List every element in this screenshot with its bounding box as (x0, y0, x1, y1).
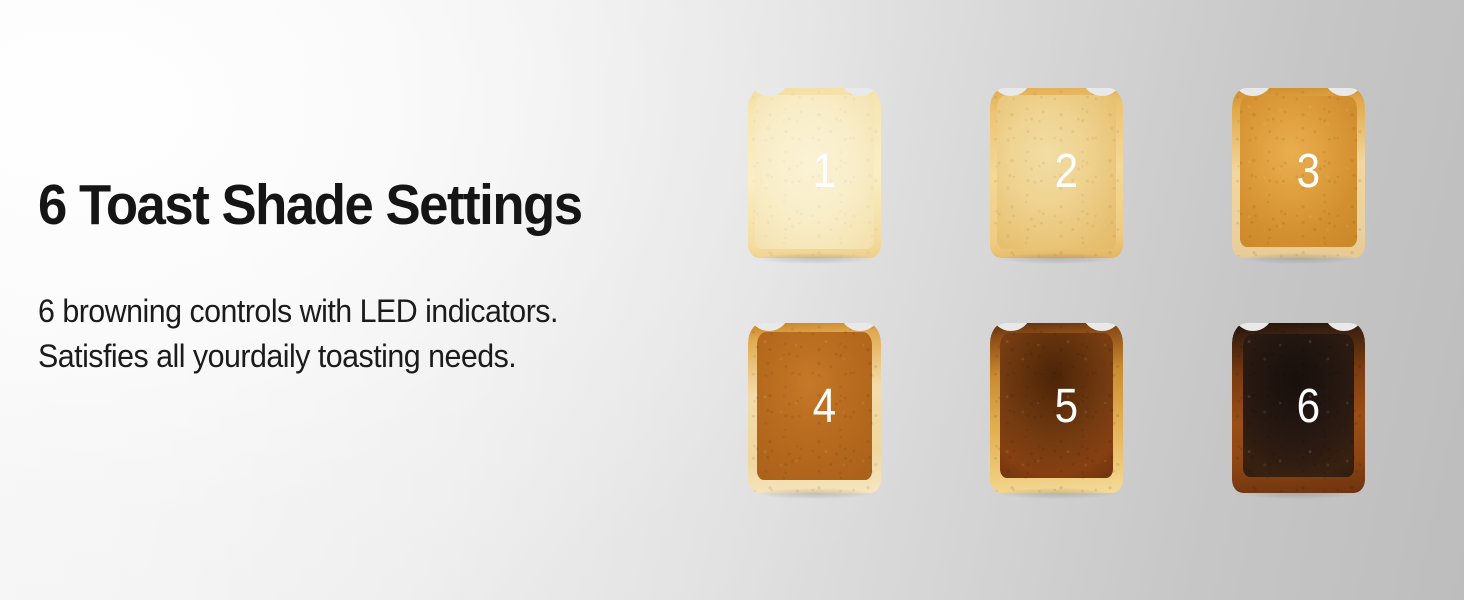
toast-shade-5: 5 (990, 323, 1123, 493)
toast-crown-notch (1232, 88, 1365, 101)
toast-grain-texture (990, 323, 1123, 493)
toast-slice-5-image (990, 323, 1123, 493)
toast-grain-texture (748, 88, 881, 258)
toast-shade-1: 1 (748, 88, 881, 258)
toast-grain-texture (1232, 88, 1365, 258)
toast-grain-texture (990, 88, 1123, 258)
toast-crown-notch (990, 88, 1123, 101)
toast-shade-6: 6 (1232, 323, 1365, 493)
headline: 6 Toast Shade Settings (38, 176, 686, 235)
subcopy-line-1: 6 browning controls with LED indicators. (38, 289, 693, 334)
copy-block: 6 Toast Shade Settings 6 browning contro… (38, 176, 738, 379)
toast-slice-1-image (748, 88, 881, 258)
toast-shade-4: 4 (748, 323, 881, 493)
toast-crown-notch (748, 88, 881, 101)
toast-slice-2-image (990, 88, 1123, 258)
product-feature-banner: 6 Toast Shade Settings 6 browning contro… (0, 0, 1464, 600)
toast-shade-3: 3 (1232, 88, 1365, 258)
toast-grain-texture (748, 323, 881, 493)
subcopy-line-2: Satisfies all yourdaily toasting needs. (38, 334, 693, 379)
toast-crown-notch (990, 323, 1123, 336)
subcopy: 6 browning controls with LED indicators.… (38, 289, 693, 379)
toast-slice-3-image (1232, 88, 1365, 258)
toast-grain-texture (1232, 323, 1365, 493)
toast-slice-6-image (1232, 323, 1365, 493)
toast-crown-notch (1232, 323, 1365, 336)
toast-slice-4-image (748, 323, 881, 493)
toast-shade-grid: 1 2 3 (748, 88, 1448, 508)
toast-shade-2: 2 (990, 88, 1123, 258)
toast-crown-notch (748, 323, 881, 336)
